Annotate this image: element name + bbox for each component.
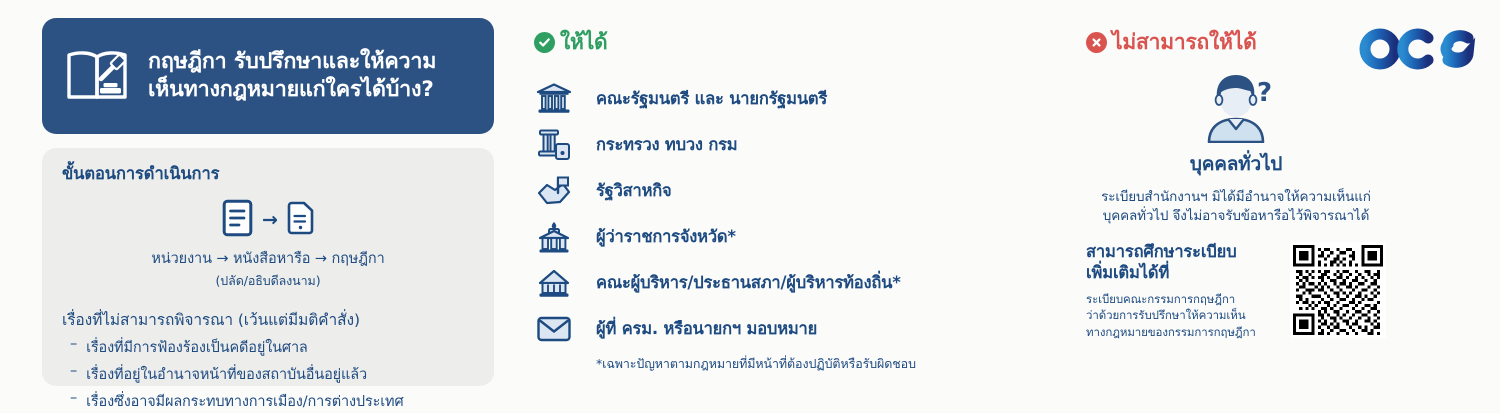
infographic-page: กฤษฎีกา รับปรึกษาและให้ความ เห็นทางกฎหมา… (0, 0, 1500, 400)
left-column: กฤษฎีกา รับปรึกษาและให้ความ เห็นทางกฎหมา… (42, 18, 494, 386)
study-more-subtext-line2: ว่าด้วยการรับปรึกษาให้ความเห็น (1086, 307, 1278, 323)
deny-description: ระเบียบสำนักงานฯ มิได้มีอำนาจให้ความเห็น… (1086, 188, 1386, 226)
list-item: คณะรัฐมนตรี และ นายกรัฐมนตรี (534, 76, 1054, 122)
allow-item-label: ผู้ว่าราชการจังหวัด* (596, 224, 736, 250)
person-icon-wrap: ? (1086, 69, 1386, 147)
study-more-title-line2: เพิ่มเติมได้ที่ (1086, 263, 1278, 284)
allow-footnote: *เฉพาะปัญหาตามกฎหมายที่มีหน้าที่ต้องปฏิบ… (596, 354, 1054, 374)
list-item: คณะผู้บริหาร/ประธานสภา/ผู้บริหารท้องถิ่น… (534, 260, 1054, 306)
exclusion-text: เรื่องที่มีการฟ้องร้องเป็นคดีอยู่ในศาล (86, 336, 308, 359)
svg-text:?: ? (1257, 78, 1272, 108)
study-more-text: สามารถศึกษาระเบียบ เพิ่มเติมได้ที่ ระเบี… (1086, 242, 1278, 340)
ministry-pillar-icon (534, 128, 574, 162)
classical-bank-icon (534, 82, 574, 116)
allow-item-label: รัฐวิสาหกิจ (596, 178, 672, 204)
person-question-icon: ? (1195, 69, 1277, 147)
list-item: – เรื่องซึ่งอาจมีผลกระทบทางการเมือง/การต… (62, 390, 474, 413)
allow-item-label: ผู้ที่ ครม. หรือนายกฯ มอบหมาย (596, 316, 817, 342)
x-circle-icon (1086, 32, 1107, 53)
process-flow: → หน่วยงาน → หนังสือหารือ → กฤษฎีกา (62, 199, 474, 291)
ocs-logo (1356, 22, 1478, 72)
deny-description-line2: บุคคลทั่วไป จึงไม่อาจรับข้อหารือไว้พิจาร… (1086, 207, 1386, 226)
document-short-icon (287, 201, 314, 239)
study-more-title-line1: สามารถศึกษาระเบียบ (1086, 242, 1278, 263)
allow-item-label: คณะผู้บริหาร/ประธานสภา/ผู้บริหารท้องถิ่น… (596, 270, 901, 296)
dash-bullet: – (70, 336, 77, 359)
study-more-block: สามารถศึกษาระเบียบ เพิ่มเติมได้ที่ ระเบี… (1086, 242, 1386, 340)
process-flow-icons: → (62, 199, 474, 241)
person-label: บุคคลทั่วไป (1086, 149, 1386, 179)
process-panel-heading: ขั้นตอนการดำเนินการ (62, 161, 474, 187)
arrow-right-icon: → (262, 211, 278, 230)
study-more-subtext-line1: ระเบียบคณะกรรมการกฤษฎีกา (1086, 291, 1278, 307)
deny-section-title: ไม่สามารถให้ได้ (1112, 26, 1257, 59)
list-item: รัฐวิสาหกิจ (534, 168, 1054, 214)
provincial-hall-icon (534, 220, 574, 254)
list-item: ผู้ที่ ครม. หรือนายกฯ มอบหมาย (534, 306, 1054, 352)
process-flow-label: หน่วยงาน → หนังสือหารือ → กฤษฎีกา (62, 247, 474, 270)
flag-territory-icon (534, 174, 574, 208)
title-card: กฤษฎีกา รับปรึกษาและให้ความ เห็นทางกฎหมา… (42, 18, 494, 134)
open-book-gavel-icon (64, 43, 130, 109)
qr-code-icon[interactable] (1290, 242, 1386, 338)
dash-bullet: – (70, 390, 77, 413)
allow-list: คณะรัฐมนตรี และ นายกรัฐมนตรี (534, 76, 1054, 352)
exclusion-text: เรื่องซึ่งอาจมีผลกระทบทางการเมือง/การต่า… (86, 390, 403, 413)
deny-section-header-wrap: ไม่สามารถให้ได้ (1086, 26, 1386, 59)
study-more-title: สามารถศึกษาระเบียบ เพิ่มเติมได้ที่ (1086, 242, 1278, 284)
list-item: ผู้ว่าราชการจังหวัด* (534, 214, 1054, 260)
list-item: – เรื่องที่มีการฟ้องร้องเป็นคดีอยู่ในศาล (62, 336, 474, 359)
study-more-subtext-line3: ทางกฎหมายของกรรมการกฤษฎีกา (1086, 324, 1278, 340)
allow-item-label: คณะรัฐมนตรี และ นายกรัฐมนตรี (596, 86, 827, 112)
exclusion-text: เรื่องที่อยู่ในอำนาจหน้าที่ของสถาบันอื่น… (86, 363, 367, 386)
page-title-line2: เห็นทางกฎหมายแก่ใครได้บ้าง? (148, 76, 436, 104)
dash-bullet: – (70, 363, 77, 386)
allow-item-label: กระทรวง ทบวง กรม (596, 132, 737, 158)
document-lines-icon (222, 199, 253, 241)
list-item: – เรื่องที่อยู่ในอำนาจหน้าที่ของสถาบันอื… (62, 363, 474, 386)
allow-section-title: ให้ได้ (560, 26, 608, 59)
envelope-icon (534, 313, 574, 345)
list-item: กระทรวง ทบวง กรม (534, 122, 1054, 168)
check-circle-icon (534, 32, 555, 53)
page-title: กฤษฎีกา รับปรึกษาและให้ความ เห็นทางกฎหมา… (148, 48, 436, 105)
deny-description-line1: ระเบียบสำนักงานฯ มิได้มีอำนาจให้ความเห็น… (1086, 188, 1386, 207)
study-more-subtext: ระเบียบคณะกรรมการกฤษฎีกา ว่าด้วยการรับปร… (1086, 291, 1278, 340)
exclusions-block: เรื่องที่ไม่สามารถพิจารณา (เว้นแต่มีมติค… (62, 307, 474, 413)
deny-column: ไม่สามารถให้ได้ ? บุคคลทั่วไป ระเบียบสำน… (1086, 26, 1386, 340)
exclusions-title: เรื่องที่ไม่สามารถพิจารณา (เว้นแต่มีมติค… (62, 307, 474, 332)
deny-section-header: ไม่สามารถให้ได้ (1086, 26, 1257, 59)
local-government-icon (534, 266, 574, 300)
allow-column: ให้ได้ ค (534, 26, 1054, 374)
page-title-line1: กฤษฎีกา รับปรึกษาและให้ความ (148, 48, 436, 76)
allow-section-header: ให้ได้ (534, 26, 1054, 59)
process-flow-subtext: (ปลัด/อธิบดีลงนาม) (62, 271, 474, 291)
process-panel: ขั้นตอนการดำเนินการ → (42, 148, 494, 386)
